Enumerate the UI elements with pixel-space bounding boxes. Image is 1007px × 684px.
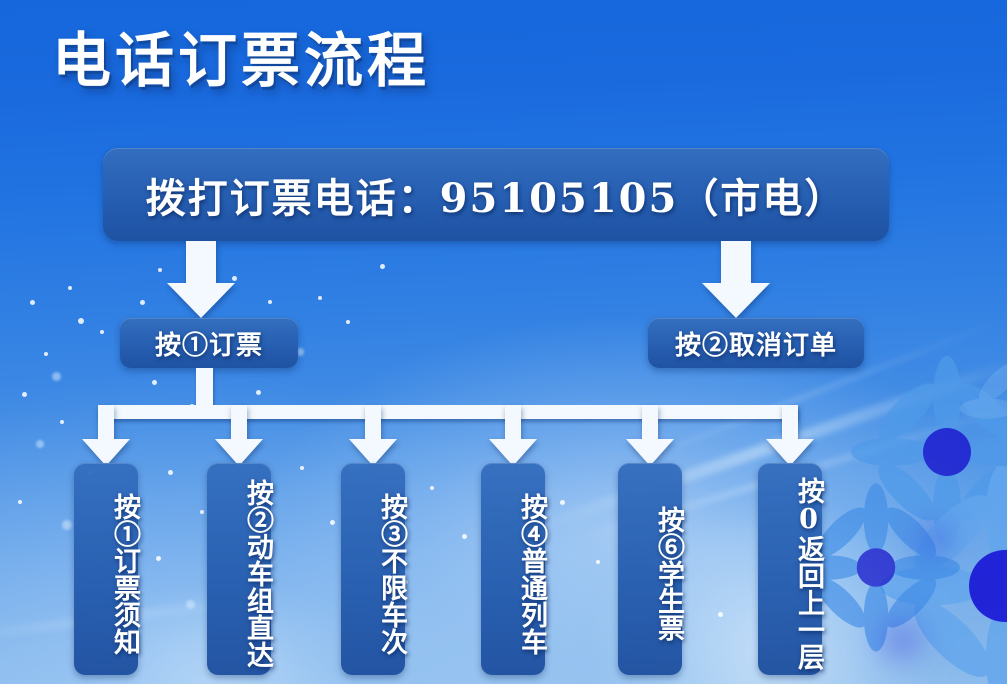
- bokeh-dot: [168, 470, 173, 475]
- node-press-4-normal-train[interactable]: 按④普通列车: [481, 463, 545, 675]
- node-press-6-student-ticket[interactable]: 按⑥学生票: [618, 463, 682, 675]
- bokeh-dot: [36, 440, 44, 448]
- bokeh-dot: [268, 300, 272, 304]
- node-press-2-cancel[interactable]: 按②取消订单: [648, 318, 864, 368]
- node-root-dial[interactable]: 拨打订票电话：95105105（市电）: [103, 148, 889, 241]
- node-press-2-emu[interactable]: 按②动车组直达: [207, 463, 271, 675]
- arrow-to-emu: [213, 405, 265, 467]
- node-press-3-any-train[interactable]: 按③不限车次: [341, 463, 405, 675]
- bokeh-dot: [380, 264, 385, 269]
- bokeh-dot: [346, 320, 350, 324]
- flowchart-canvas: 电话订票流程 拨打订票电话：95105105（市电） 按①订票 按②取消订单: [0, 0, 1007, 684]
- bokeh-dot: [68, 286, 72, 290]
- page-title: 电话订票流程: [52, 28, 430, 94]
- bokeh-dot: [18, 500, 22, 504]
- arrow-to-any-train: [347, 405, 399, 467]
- bokeh-dot: [52, 372, 61, 381]
- arrow-root-to-cancel: [700, 241, 772, 319]
- arrow-to-notice: [80, 405, 132, 467]
- bokeh-dot: [22, 392, 27, 397]
- bokeh-dot: [256, 390, 261, 395]
- bokeh-dot: [44, 352, 48, 356]
- arrow-root-to-order: [165, 241, 237, 319]
- arrow-to-normal-train: [487, 405, 539, 467]
- connector-trunk: [196, 368, 213, 412]
- flower-bokeh: [866, 616, 936, 664]
- bokeh-dot: [156, 556, 161, 561]
- bokeh-dot: [190, 404, 194, 408]
- bokeh-dot: [100, 330, 104, 334]
- arrow-to-back: [764, 405, 816, 467]
- bokeh-dot: [462, 534, 467, 539]
- bokeh-dot: [330, 520, 335, 525]
- bokeh-dot: [300, 466, 304, 470]
- arrow-to-student-ticket: [624, 405, 676, 467]
- bokeh-dot: [158, 268, 162, 272]
- bokeh-dot: [152, 380, 157, 385]
- bokeh-dot: [60, 420, 64, 424]
- bokeh-dot: [232, 276, 237, 281]
- bokeh-dot: [200, 510, 204, 514]
- bokeh-dot: [140, 300, 145, 305]
- bokeh-dot: [318, 296, 322, 300]
- connector-bus: [98, 405, 798, 419]
- node-press-1-order[interactable]: 按①订票: [120, 318, 298, 368]
- bokeh-dot: [196, 290, 202, 296]
- bokeh-dot: [30, 300, 35, 305]
- bokeh-dot: [560, 500, 565, 505]
- bokeh-dot: [62, 520, 72, 530]
- bokeh-dot: [430, 486, 434, 490]
- bokeh-dot: [596, 560, 600, 564]
- flower-bokeh: [906, 520, 962, 560]
- bokeh-dot: [186, 600, 195, 609]
- bokeh-dot: [78, 318, 84, 324]
- node-press-0-back[interactable]: 按0返回上一层: [758, 463, 822, 675]
- node-press-1-notice[interactable]: 按①订票须知: [74, 463, 138, 675]
- flower-icon: [880, 466, 1007, 684]
- flower-icon: [950, 336, 1007, 481]
- bokeh-dot: [718, 612, 723, 617]
- flower-icon: [842, 352, 1007, 552]
